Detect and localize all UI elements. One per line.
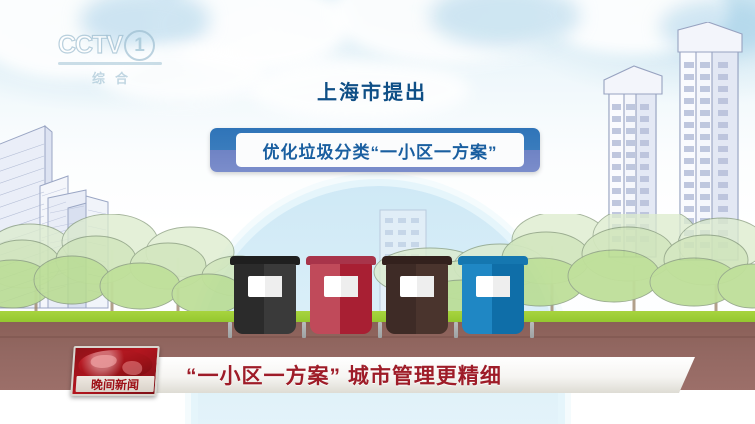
headline-banner-inner: 优化垃圾分类“一小区一方案” — [236, 133, 524, 167]
bin-label — [248, 276, 283, 297]
bin-label — [476, 276, 511, 297]
headline-text: 优化垃圾分类“一小区一方案” — [263, 138, 498, 163]
cctv-channel-logo: CCTV 1 综合 — [58, 30, 168, 82]
brown-bin — [386, 256, 448, 334]
lower-third-bar: “一小区一方案” 城市管理更精细 — [150, 357, 695, 393]
blue-bin — [462, 256, 524, 334]
channel-name: 综合 — [58, 68, 162, 87]
channel-number: 1 — [124, 30, 155, 61]
bin-leg — [302, 322, 306, 338]
bin-body — [310, 264, 372, 334]
tree-band — [0, 214, 755, 316]
bin-label — [324, 276, 359, 297]
cctv-underline — [58, 62, 162, 65]
bin-leg — [378, 322, 382, 338]
program-name: 晚间新闻 — [76, 376, 155, 392]
black-bin — [234, 256, 296, 334]
bin-leg — [228, 322, 232, 338]
bin-body — [462, 264, 524, 334]
broadcast-frame: CCTV 1 综合 上海市提出 优化垃圾分类“一小区一方案” “一小区一方案” … — [0, 0, 755, 424]
bin-body — [386, 264, 448, 334]
bin-label — [400, 276, 435, 297]
cctv-wordmark: CCTV — [58, 31, 122, 60]
grass-strip — [0, 311, 755, 322]
bin-leg — [530, 322, 534, 338]
bin-body — [234, 264, 296, 334]
red-bin — [310, 256, 372, 334]
lower-third-headline: “一小区一方案” 城市管理更精细 — [186, 357, 502, 393]
program-logo: 晚间新闻 — [70, 346, 159, 396]
headline-banner: 优化垃圾分类“一小区一方案” — [210, 128, 540, 172]
bin-leg — [454, 322, 458, 338]
overlay-kicker: 上海市提出 — [317, 76, 427, 105]
